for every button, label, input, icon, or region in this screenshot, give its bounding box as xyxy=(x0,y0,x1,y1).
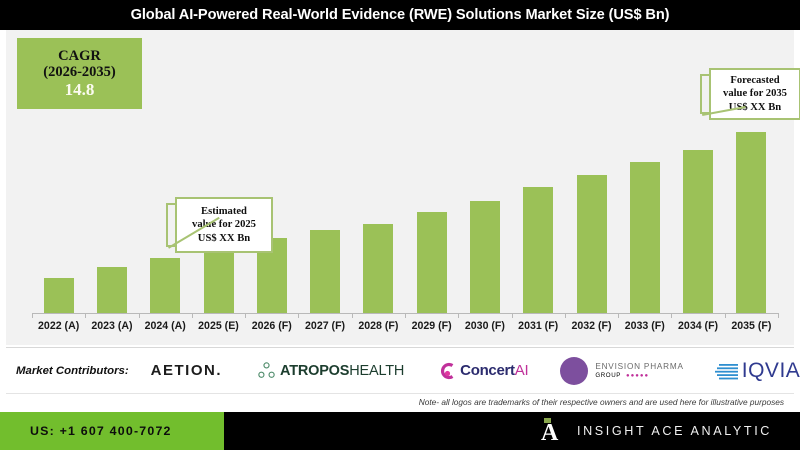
axis-tick xyxy=(405,313,406,318)
x-axis-label-2031F: 2031 (F) xyxy=(512,320,565,332)
bar-2025E xyxy=(204,249,234,313)
logo-aetion-text: AETION. xyxy=(151,362,222,379)
bar-2024A xyxy=(150,258,180,313)
logo-atropos-bold: ATROPOS xyxy=(280,363,349,379)
logo-iqvia: IQVIA xyxy=(714,359,800,383)
logo-concertai-text: ConcertAI xyxy=(460,362,528,379)
axis-tick xyxy=(245,313,246,318)
axis-tick xyxy=(618,313,619,318)
bar-2035F xyxy=(736,132,766,313)
x-axis-label-2034F: 2034 (F) xyxy=(671,320,724,332)
x-axis-label-2024A: 2024 (A) xyxy=(139,320,192,332)
x-axis-label-2027F: 2027 (F) xyxy=(298,320,351,332)
logo-letter-a: A xyxy=(541,422,558,444)
logo-atropos-light: HEALTH xyxy=(349,363,404,379)
envision-dots-icon: ●●●●● xyxy=(626,373,649,379)
trademark-note: Note- all logos are trademarks of their … xyxy=(419,397,784,407)
bar-2031F xyxy=(523,187,553,313)
axis-tick xyxy=(352,313,353,318)
bar-2030F xyxy=(470,201,500,313)
x-axis-label-2029F: 2029 (F) xyxy=(405,320,458,332)
cagr-period: (2026-2035) xyxy=(43,64,116,80)
x-axis-label-2028F: 2028 (F) xyxy=(352,320,405,332)
bar-2029F xyxy=(417,212,447,313)
bar-2027F xyxy=(310,230,340,313)
x-axis-label-2022A: 2022 (A) xyxy=(32,320,85,332)
title-bar: Global AI-Powered Real-World Evidence (R… xyxy=(0,0,800,30)
x-axis-label-2023A: 2023 (A) xyxy=(85,320,138,332)
callout-2025-line2: value for 2025 xyxy=(192,218,256,231)
axis-tick xyxy=(671,313,672,318)
callout-2035-line1: Forecasted xyxy=(730,74,779,87)
logo-concertai: ConcertAI xyxy=(438,361,528,381)
logo-atropos-health: ATROPOSHEALTH xyxy=(258,362,404,379)
x-axis-label-2032F: 2032 (F) xyxy=(565,320,618,332)
envision-circle-icon xyxy=(560,357,588,385)
bar-2032F xyxy=(577,175,607,313)
callout-2025-line1: Estimated xyxy=(201,205,247,218)
logo-aetion: AETION. xyxy=(151,362,222,379)
logo-iqvia-text: IQVIA xyxy=(742,359,800,383)
bar-2022A xyxy=(44,278,74,313)
callout-estimated-2025: Estimated value for 2025 US$ XX Bn xyxy=(175,197,273,253)
logo-envision-pharma: ENVISION PHARMA GROUP ●●●●● xyxy=(560,357,683,385)
axis-tick xyxy=(139,313,140,318)
cagr-value: 14.8 xyxy=(65,80,95,99)
footer-contact-block: US: +1 607 400-7072 xyxy=(0,412,224,450)
logo-concertai-bold: Concert xyxy=(460,362,515,379)
concertai-c-icon xyxy=(438,361,456,381)
cagr-label: CAGR xyxy=(58,48,101,64)
note-row: Note- all logos are trademarks of their … xyxy=(6,393,794,411)
x-axis-label-2025E: 2025 (E) xyxy=(192,320,245,332)
x-axis-label-2033F: 2033 (F) xyxy=(618,320,671,332)
bar-2034F xyxy=(683,150,713,313)
axis-tick xyxy=(298,313,299,318)
axis-tick xyxy=(458,313,459,318)
x-axis-label-2035F: 2035 (F) xyxy=(725,320,778,332)
infographic-page: Global AI-Powered Real-World Evidence (R… xyxy=(0,0,800,450)
footer-brand-block: A INSIGHT ACE ANALYTIC xyxy=(224,412,800,450)
axis-tick xyxy=(565,313,566,318)
market-contributors-label: Market Contributors: xyxy=(16,365,129,377)
bar-2028F xyxy=(363,224,393,313)
bar-2023A xyxy=(97,267,127,313)
atropos-triangle-icon xyxy=(258,362,275,379)
axis-tick xyxy=(192,313,193,318)
x-axis-label-2026F: 2026 (F) xyxy=(245,320,298,332)
logo-atropos-text: ATROPOSHEALTH xyxy=(280,363,404,379)
axis-tick xyxy=(512,313,513,318)
axis-tick xyxy=(778,313,779,318)
logo-envision-text: ENVISION PHARMA xyxy=(595,362,683,372)
cagr-badge: CAGR (2026-2035) 14.8 xyxy=(17,38,142,109)
axis-tick xyxy=(725,313,726,318)
market-contributors-strip: Market Contributors: AETION. ATROPOSHEAL… xyxy=(6,347,794,394)
footer-phone-number[interactable]: US: +1 607 400-7072 xyxy=(30,424,172,438)
axis-tick xyxy=(32,313,33,318)
brand-name: INSIGHT ACE ANALYTIC xyxy=(577,424,772,438)
axis-tick xyxy=(85,313,86,318)
x-axis-label-2030F: 2030 (F) xyxy=(458,320,511,332)
chart-panel: 2022 (A)2023 (A)2024 (A)2025 (E)2026 (F)… xyxy=(6,30,794,345)
insightace-logo-icon: A xyxy=(541,418,563,444)
logo-concertai-accent: AI xyxy=(515,362,529,379)
logo-envision-sub: GROUP xyxy=(595,372,621,379)
callout-2035-line2: value for 2035 xyxy=(723,87,787,100)
iqvia-bars-icon xyxy=(714,361,740,381)
footer-bar: US: +1 607 400-7072 A INSIGHT ACE ANALYT… xyxy=(0,412,800,450)
page-title: Global AI-Powered Real-World Evidence (R… xyxy=(131,7,670,23)
callout-2025-line3: US$ XX Bn xyxy=(198,232,250,245)
bar-2033F xyxy=(630,162,660,313)
